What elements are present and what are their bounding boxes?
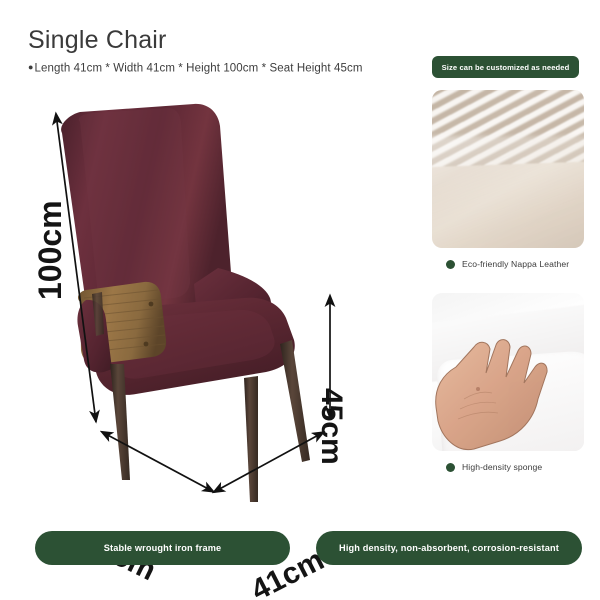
leather-caption-text: Eco-friendly Nappa Leather	[462, 259, 569, 269]
width-dimension-line	[214, 432, 324, 492]
dimension-label-height: 100cm	[32, 200, 69, 300]
depth-dimension-line	[102, 432, 214, 492]
panel-screw-bottom	[144, 342, 149, 347]
page-title: Single Chair	[28, 26, 167, 55]
chair-leg-right	[280, 340, 310, 462]
chair-leg-front-center	[244, 376, 258, 502]
pill-material-properties: High density, non-absorbent, corrosion-r…	[316, 531, 582, 565]
product-specs-line: ●Length 41cm * Width 41cm * Height 100cm…	[28, 62, 363, 75]
customization-badge: Size can be customized as needed	[432, 56, 579, 78]
dimension-label-seat-height: 45cm	[314, 388, 348, 465]
bullet-dot-icon	[446, 463, 455, 472]
hand-pressing-foam-photo	[432, 293, 584, 451]
product-spec-page: Single Chair ●Length 41cm * Width 41cm *…	[0, 0, 600, 600]
chair-diagram: 100cm 45cm 41cm 41cm	[18, 88, 418, 508]
feature-column: Size can be customized as needed Eco-fri…	[432, 56, 584, 472]
bullet-dot-icon	[446, 260, 455, 269]
nappa-leather-swatch-photo	[432, 90, 584, 248]
specs-text: Length 41cm * Width 41cm * Height 100cm …	[35, 63, 363, 75]
sponge-caption-text: High-density sponge	[462, 462, 542, 472]
panel-screw-top	[149, 302, 154, 307]
bullet-icon: ●	[28, 62, 34, 72]
sponge-caption: High-density sponge	[432, 462, 584, 472]
chair-illustration	[18, 88, 418, 508]
hand-icon	[434, 333, 566, 451]
leather-caption: Eco-friendly Nappa Leather	[432, 259, 584, 269]
pill-stable-frame: Stable wrought iron frame	[35, 531, 290, 565]
